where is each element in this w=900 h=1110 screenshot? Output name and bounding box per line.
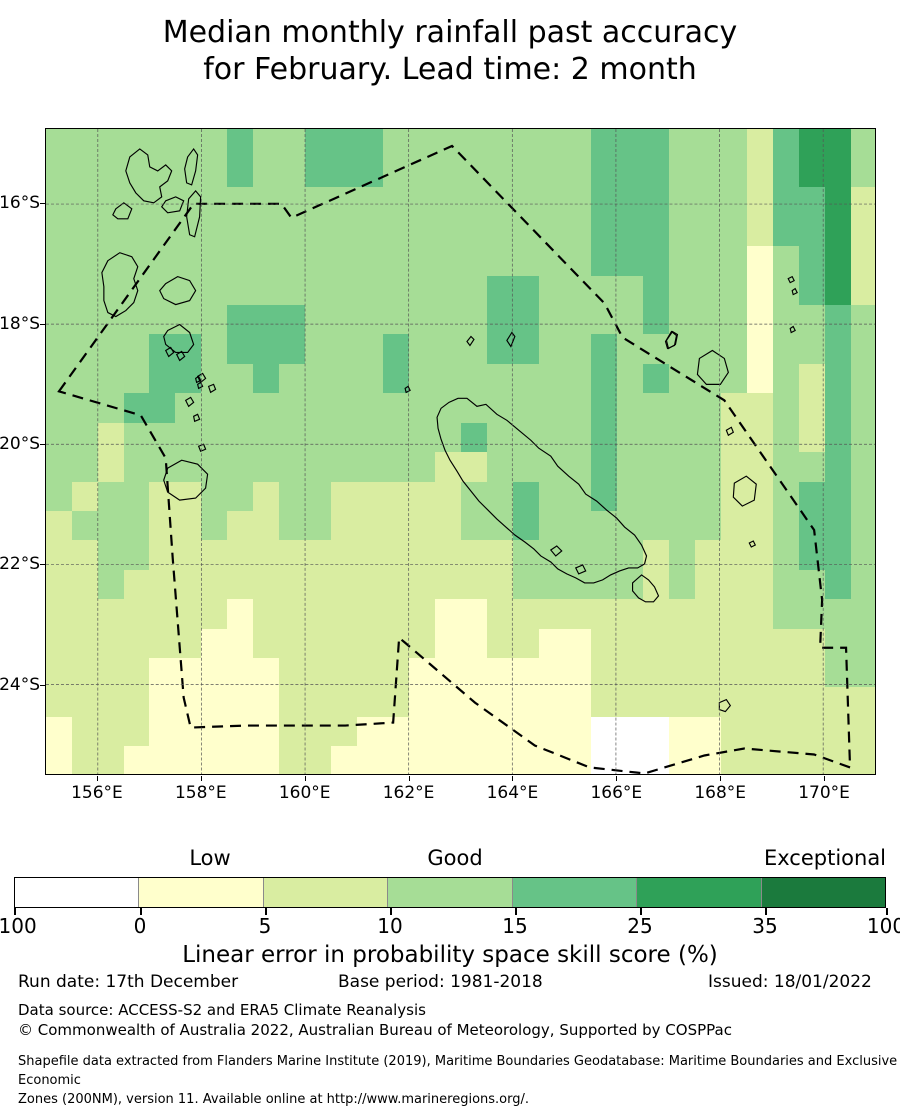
x-axis-tick-label: 160°E	[260, 783, 350, 803]
colorbar-category-label: Low	[189, 846, 230, 870]
base-period: Base period: 1981-2018	[338, 972, 543, 992]
x-axis-tick-mark	[512, 776, 513, 781]
x-axis-tick-mark	[616, 776, 617, 781]
issued-date: Issued: 18/01/2022	[708, 972, 872, 992]
y-axis-tick-label: 16°S	[0, 193, 40, 213]
x-axis-tick-label: 158°E	[156, 783, 246, 803]
data-source-line: Data source: ACCESS-S2 and ERA5 Climate …	[18, 1000, 898, 1020]
y-axis-tick-label: 20°S	[0, 434, 40, 454]
x-axis-tick-label: 170°E	[779, 783, 869, 803]
colorbar-tick-label: 5	[259, 914, 272, 938]
colorbar-segment	[761, 878, 885, 907]
x-axis-tick-mark	[720, 776, 721, 781]
colorbar-segment	[138, 878, 262, 907]
colorbar: LowGoodExceptional-1000510152535100	[0, 846, 900, 946]
colorbar-axis-label: Linear error in probability space skill …	[0, 942, 900, 968]
colorbar-tick-mark	[886, 908, 888, 915]
y-axis-tick-mark	[40, 685, 45, 686]
x-axis-tick-label: 156°E	[52, 783, 142, 803]
colorbar-tick-mark	[640, 908, 642, 915]
colorbar-segment	[512, 878, 636, 907]
colorbar-tick-mark	[515, 908, 517, 915]
colorbar-tick-mark	[265, 908, 267, 915]
y-axis-tick-label: 24°S	[0, 675, 40, 695]
colorbar-segment	[263, 878, 387, 907]
colorbar-tick-mark	[14, 908, 16, 915]
shapefile-line-2: Zones (200NM), version 11. Available onl…	[18, 1090, 898, 1109]
colorbar-tick-label: 0	[134, 914, 147, 938]
colorbar-category-label: Exceptional	[764, 846, 886, 870]
x-axis-tick-mark	[97, 776, 98, 781]
run-date: Run date: 17th December	[18, 972, 238, 992]
colorbar-tick-label: 100	[867, 914, 900, 938]
y-axis-tick-mark	[40, 444, 45, 445]
colorbar-segment	[387, 878, 511, 907]
colorbar-tick-label: -100	[0, 914, 37, 938]
x-axis-tick-label: 168°E	[675, 783, 765, 803]
x-axis-tick-mark	[201, 776, 202, 781]
colorbar-segment	[636, 878, 760, 907]
y-axis-tick-mark	[40, 324, 45, 325]
x-axis-tick-label: 166°E	[571, 783, 661, 803]
x-axis-tick-mark	[409, 776, 410, 781]
x-axis-tick-mark	[305, 776, 306, 781]
colorbar-tick-label: 35	[752, 914, 777, 938]
colorbar-gradient	[14, 877, 886, 908]
y-axis-tick-mark	[40, 564, 45, 565]
shapefile-line-1: Shapefile data extracted from Flanders M…	[18, 1052, 898, 1090]
eez-boundary-line	[59, 146, 850, 773]
colorbar-segment	[15, 878, 138, 907]
y-axis-tick-mark	[40, 203, 45, 204]
shapefile-attribution: Shapefile data extracted from Flanders M…	[18, 1052, 898, 1109]
footer: Run date: 17th December Base period: 198…	[18, 972, 898, 1109]
map-plot-area	[45, 128, 876, 775]
coastline-outlines	[102, 149, 797, 712]
colorbar-tick-mark	[390, 908, 392, 915]
colorbar-tick-mark	[140, 908, 142, 915]
colorbar-category-label: Good	[427, 846, 482, 870]
page-title: Median monthly rainfall past accuracy fo…	[0, 14, 900, 88]
map-overlay-vectors	[46, 129, 875, 774]
colorbar-tick-label: 10	[377, 914, 402, 938]
footer-meta-row: Run date: 17th December Base period: 198…	[18, 972, 898, 1000]
x-axis-tick-mark	[824, 776, 825, 781]
colorbar-tick-label: 25	[627, 914, 652, 938]
x-axis-tick-label: 162°E	[364, 783, 454, 803]
colorbar-tick-mark	[765, 908, 767, 915]
colorbar-tick-label: 15	[502, 914, 527, 938]
x-axis-tick-label: 164°E	[467, 783, 557, 803]
y-axis-tick-label: 22°S	[0, 554, 40, 574]
y-axis-tick-label: 18°S	[0, 314, 40, 334]
copyright-line: © Commonwealth of Australia 2022, Austra…	[18, 1020, 898, 1040]
